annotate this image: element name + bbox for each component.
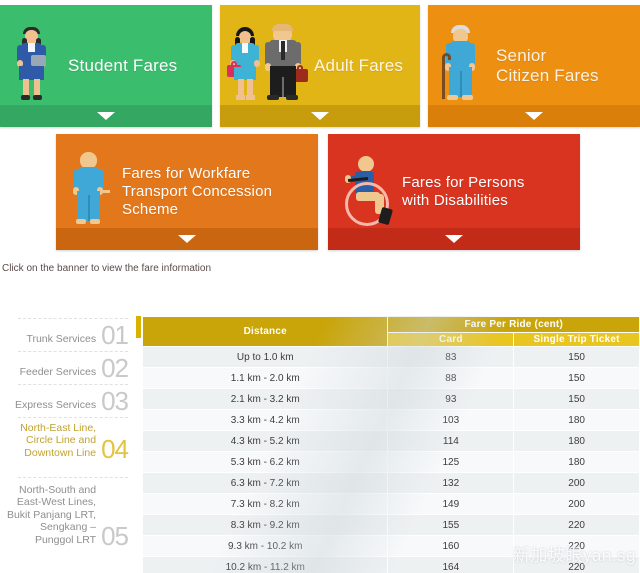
cell-single-trip-ticket-fare: 220 bbox=[514, 557, 640, 573]
fare-table: Distance Fare Per Ride (cent) Card Singl… bbox=[142, 316, 640, 573]
cell-single-trip-ticket-fare: 200 bbox=[514, 473, 640, 494]
sidebar-item-ns-ew-lines[interactable]: North-South and East-West Lines, Bukit P… bbox=[0, 484, 132, 549]
cell-card-fare: 114 bbox=[388, 431, 514, 452]
cell-card-fare: 93 bbox=[388, 389, 514, 410]
banner-student-fares[interactable]: Student Fares bbox=[0, 5, 212, 127]
cell-card-fare: 160 bbox=[388, 536, 514, 557]
banner-senior-citizen-fares-expander[interactable] bbox=[428, 105, 640, 127]
cell-distance: 10.2 km - 11.2 km bbox=[143, 557, 388, 573]
banner-hint-text: Click on the banner to view the fare inf… bbox=[2, 263, 211, 274]
banner-persons-with-disabilities[interactable]: Fares for Persons with Disabilities bbox=[328, 134, 580, 250]
sidebar-divider bbox=[18, 477, 128, 478]
sidebar-item-feeder-services[interactable]: Feeder Services 02 bbox=[0, 357, 132, 381]
banner-adult-fares[interactable]: Adult Fares bbox=[220, 5, 420, 127]
cell-single-trip-ticket-fare: 180 bbox=[514, 410, 640, 431]
table-row: 2.1 km - 3.2 km93150 bbox=[143, 389, 640, 410]
column-header-card: Card bbox=[388, 333, 514, 347]
chevron-down-icon bbox=[311, 112, 329, 120]
banner-workfare-transport-concession[interactable]: Fares for Workfare Transport Concession … bbox=[56, 134, 318, 250]
cell-card-fare: 155 bbox=[388, 515, 514, 536]
chevron-down-icon bbox=[445, 235, 463, 243]
table-row: 8.3 km - 9.2 km155220 bbox=[143, 515, 640, 536]
cell-card-fare: 83 bbox=[388, 347, 514, 368]
cell-card-fare: 88 bbox=[388, 368, 514, 389]
sidebar-divider bbox=[18, 417, 128, 418]
cell-distance: 9.3 km - 10.2 km bbox=[143, 536, 388, 557]
table-row: 1.1 km - 2.0 km88150 bbox=[143, 368, 640, 389]
fare-table-header-row-1: Distance Fare Per Ride (cent) bbox=[143, 317, 640, 333]
banner-senior-citizen-fares[interactable]: Senior Citizen Fares bbox=[428, 5, 640, 127]
cell-single-trip-ticket-fare: 220 bbox=[514, 515, 640, 536]
cell-card-fare: 103 bbox=[388, 410, 514, 431]
table-row: Up to 1.0 km83150 bbox=[143, 347, 640, 368]
banner-adult-fares-expander[interactable] bbox=[220, 105, 420, 127]
cell-card-fare: 149 bbox=[388, 494, 514, 515]
cell-distance: 2.1 km - 3.2 km bbox=[143, 389, 388, 410]
fare-table-body: Up to 1.0 km831501.1 km - 2.0 km881502.1… bbox=[143, 347, 640, 573]
cell-distance: 3.3 km - 4.2 km bbox=[143, 410, 388, 431]
cell-single-trip-ticket-fare: 180 bbox=[514, 452, 640, 473]
fare-table-head: Distance Fare Per Ride (cent) Card Singl… bbox=[143, 317, 640, 347]
cell-single-trip-ticket-fare: 150 bbox=[514, 389, 640, 410]
table-row: 9.3 km - 10.2 km160220 bbox=[143, 536, 640, 557]
banner-persons-with-disabilities-expander[interactable] bbox=[328, 228, 580, 250]
sidebar-item-trunk-services[interactable]: Trunk Services 01 bbox=[0, 324, 132, 348]
banner-adult-fares-label: Adult Fares bbox=[314, 56, 403, 76]
sidebar-item-label: North-South and East-West Lines, Bukit P… bbox=[7, 484, 96, 549]
banner-persons-with-disabilities-label: Fares for Persons with Disabilities bbox=[402, 174, 525, 209]
banner-senior-citizen-fares-label: Senior Citizen Fares bbox=[496, 46, 599, 86]
cell-distance: 7.3 km - 8.2 km bbox=[143, 494, 388, 515]
table-row: 6.3 km - 7.2 km132200 bbox=[143, 473, 640, 494]
cell-single-trip-ticket-fare: 150 bbox=[514, 368, 640, 389]
sidebar-active-accent-bar bbox=[136, 316, 141, 338]
chevron-down-icon bbox=[97, 112, 115, 120]
cell-card-fare: 132 bbox=[388, 473, 514, 494]
table-row: 5.3 km - 6.2 km125180 bbox=[143, 452, 640, 473]
banner-student-fares-label: Student Fares bbox=[68, 56, 177, 76]
banner-workfare-transport-concession-expander[interactable] bbox=[56, 228, 318, 250]
cell-distance: Up to 1.0 km bbox=[143, 347, 388, 368]
cell-card-fare: 125 bbox=[388, 452, 514, 473]
sidebar-item-number: 01 bbox=[101, 324, 128, 348]
banner-row-secondary: Fares for Workfare Transport Concession … bbox=[56, 134, 580, 250]
service-type-sidebar: Trunk Services 01 Feeder Services 02 Exp… bbox=[0, 300, 140, 573]
banner-student-fares-expander[interactable] bbox=[0, 105, 212, 127]
cell-single-trip-ticket-fare: 180 bbox=[514, 431, 640, 452]
sidebar-divider bbox=[18, 318, 128, 319]
sidebar-item-number: 05 bbox=[101, 525, 128, 549]
sidebar-item-label: Feeder Services bbox=[20, 366, 96, 381]
sidebar-item-number: 04 bbox=[101, 438, 128, 462]
sidebar-item-number: 02 bbox=[101, 357, 128, 381]
chevron-down-icon bbox=[178, 235, 196, 243]
cell-single-trip-ticket-fare: 220 bbox=[514, 536, 640, 557]
sidebar-item-number: 03 bbox=[101, 390, 128, 414]
sidebar-item-label: Express Services bbox=[15, 399, 96, 414]
fare-information-page: Student Fares bbox=[0, 0, 640, 573]
table-row: 10.2 km - 11.2 km164220 bbox=[143, 557, 640, 573]
cell-card-fare: 164 bbox=[388, 557, 514, 573]
column-group-header-fare-per-ride: Fare Per Ride (cent) bbox=[388, 317, 640, 333]
column-header-distance: Distance bbox=[143, 317, 388, 347]
cell-single-trip-ticket-fare: 200 bbox=[514, 494, 640, 515]
sidebar-item-ne-circle-downtown-line[interactable]: North-East Line, Circle Line and Downtow… bbox=[0, 422, 132, 462]
sidebar-divider bbox=[18, 351, 128, 352]
column-header-single-trip-ticket: Single Trip Ticket bbox=[514, 333, 640, 347]
sidebar-item-express-services[interactable]: Express Services 03 bbox=[0, 390, 132, 414]
cell-distance: 8.3 km - 9.2 km bbox=[143, 515, 388, 536]
cell-distance: 6.3 km - 7.2 km bbox=[143, 473, 388, 494]
table-row: 7.3 km - 8.2 km149200 bbox=[143, 494, 640, 515]
cell-distance: 5.3 km - 6.2 km bbox=[143, 452, 388, 473]
sidebar-item-label: North-East Line, Circle Line and Downtow… bbox=[20, 422, 96, 462]
table-row: 3.3 km - 4.2 km103180 bbox=[143, 410, 640, 431]
cell-distance: 1.1 km - 2.0 km bbox=[143, 368, 388, 389]
banner-row-primary: Student Fares bbox=[0, 5, 640, 127]
cell-single-trip-ticket-fare: 150 bbox=[514, 347, 640, 368]
chevron-down-icon bbox=[525, 112, 543, 120]
sidebar-divider bbox=[18, 384, 128, 385]
table-row: 4.3 km - 5.2 km114180 bbox=[143, 431, 640, 452]
cell-distance: 4.3 km - 5.2 km bbox=[143, 431, 388, 452]
banner-workfare-transport-concession-label: Fares for Workfare Transport Concession … bbox=[122, 165, 272, 218]
sidebar-item-label: Trunk Services bbox=[26, 333, 96, 348]
